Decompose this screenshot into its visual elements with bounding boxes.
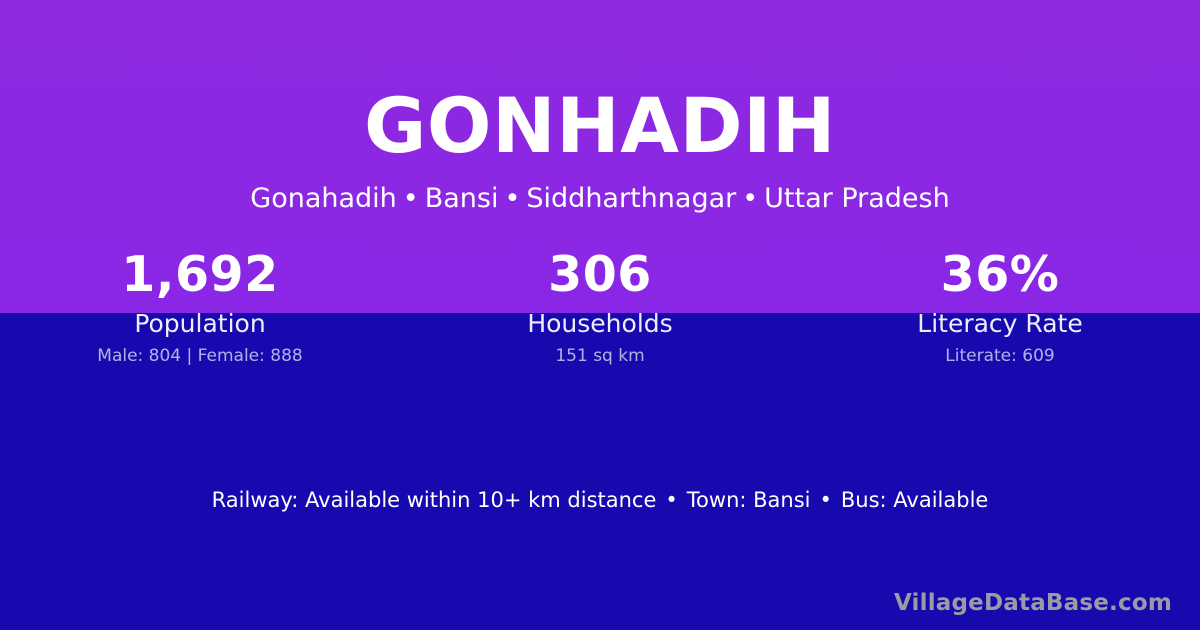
stat-sublabel: Male: 804 | Female: 888 <box>0 345 400 367</box>
site-brand-watermark: VillageDataBase.com <box>894 588 1172 618</box>
breadcrumb-state: Uttar Pradesh <box>764 183 950 214</box>
amenity-separator-1: • <box>656 488 686 512</box>
breadcrumb-district: Siddharthnagar <box>526 183 736 214</box>
amenities-line: Railway: Available within 10+ km distanc… <box>0 485 1200 515</box>
stats-row: 1,692 Population Male: 804 | Female: 888… <box>0 246 1200 367</box>
amenity-bus: Bus: Available <box>841 488 988 512</box>
breadcrumb-block: Bansi <box>425 183 499 214</box>
stat-sublabel: Literate: 609 <box>800 345 1200 367</box>
stat-literacy-rate: 36% Literacy Rate Literate: 609 <box>800 246 1200 367</box>
village-info-card: GONHADIH Gonahadih•Bansi•Siddharthnagar•… <box>0 0 1200 630</box>
breadcrumb-separator-3: • <box>736 183 764 214</box>
stat-value: 1,692 <box>0 246 400 304</box>
stat-value: 36% <box>800 246 1200 304</box>
stat-population: 1,692 Population Male: 804 | Female: 888 <box>0 246 400 367</box>
stat-households: 306 Households 151 sq km <box>400 246 800 367</box>
stat-label: Households <box>400 308 800 339</box>
stat-value: 306 <box>400 246 800 304</box>
breadcrumb-separator-1: • <box>397 183 425 214</box>
stat-sublabel: 151 sq km <box>400 345 800 367</box>
card-content: GONHADIH Gonahadih•Bansi•Siddharthnagar•… <box>0 0 1200 630</box>
stat-label: Literacy Rate <box>800 308 1200 339</box>
breadcrumb-separator-2: • <box>498 183 526 214</box>
page-title: GONHADIH <box>0 84 1200 168</box>
amenity-town: Town: Bansi <box>687 488 811 512</box>
breadcrumb: Gonahadih•Bansi•Siddharthnagar•Uttar Pra… <box>0 182 1200 216</box>
amenity-railway: Railway: Available within 10+ km distanc… <box>212 488 657 512</box>
breadcrumb-village: Gonahadih <box>250 183 397 214</box>
stat-label: Population <box>0 308 400 339</box>
amenity-separator-2: • <box>810 488 840 512</box>
